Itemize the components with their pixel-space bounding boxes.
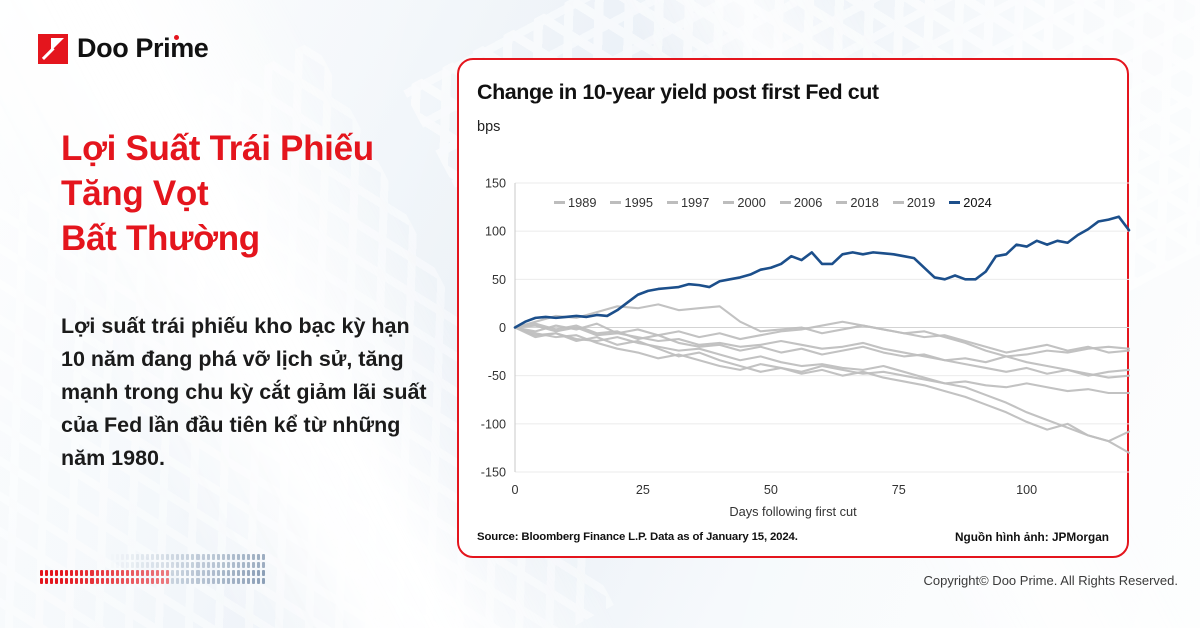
legend-label: 1995 [624, 195, 652, 210]
dot [151, 562, 154, 568]
dot [90, 570, 93, 576]
dot [202, 562, 205, 568]
dot [222, 562, 225, 568]
dot [191, 578, 194, 584]
dot [242, 562, 245, 568]
chart-credit: Nguồn hình ảnh: JPMorgan [955, 530, 1109, 544]
dot [111, 562, 114, 568]
dot [242, 554, 245, 560]
dot [171, 570, 174, 576]
dot [181, 578, 184, 584]
dot [80, 570, 83, 576]
x-tick-label-100: 100 [1016, 483, 1037, 497]
dot [136, 578, 139, 584]
body-paragraph: Lợi suất trái phiếu kho bạc kỳ hạn 10 nă… [61, 310, 431, 474]
dot [232, 562, 235, 568]
dot [217, 578, 220, 584]
dot [176, 562, 179, 568]
plot-area: 150100500-50-100-1500255075100 [459, 60, 1131, 560]
dot [161, 578, 164, 584]
legend-label: 1997 [681, 195, 709, 210]
dot [45, 578, 48, 584]
dot [146, 570, 149, 576]
legend-swatch-icon [949, 201, 960, 204]
dot [166, 562, 169, 568]
dot-row [40, 554, 265, 560]
dot [70, 578, 73, 584]
dot [111, 578, 114, 584]
dot [186, 562, 189, 568]
dot [247, 578, 250, 584]
dot [65, 578, 68, 584]
dot [257, 578, 260, 584]
dot [212, 562, 215, 568]
dot [70, 570, 73, 576]
dot [50, 570, 53, 576]
x-tick-label-0: 0 [511, 483, 518, 497]
dot [247, 554, 250, 560]
dot [237, 562, 240, 568]
dot [60, 570, 63, 576]
dot [136, 554, 139, 560]
chart-legend: 19891995199720002006201820192024 [554, 195, 992, 210]
dot [252, 578, 255, 584]
dot [146, 554, 149, 560]
dot [202, 578, 205, 584]
dot [212, 578, 215, 584]
dot [126, 554, 129, 560]
dot [237, 570, 240, 576]
dot [136, 570, 139, 576]
dot [116, 562, 119, 568]
legend-item-1989[interactable]: 1989 [554, 195, 596, 210]
dot [237, 578, 240, 584]
dot [55, 570, 58, 576]
legend-swatch-icon [836, 201, 847, 204]
dot [196, 578, 199, 584]
dot [161, 554, 164, 560]
dot [106, 570, 109, 576]
dot [156, 554, 159, 560]
dot [232, 570, 235, 576]
legend-label: 2024 [963, 195, 991, 210]
dot [111, 554, 114, 560]
legend-item-1997[interactable]: 1997 [667, 195, 709, 210]
dot [242, 578, 245, 584]
dot [141, 578, 144, 584]
dot [262, 554, 265, 560]
dot [181, 562, 184, 568]
x-tick-label-75: 75 [892, 483, 906, 497]
dot [101, 570, 104, 576]
series-line-2024 [515, 217, 1129, 328]
chart-svg: 150100500-50-100-1500255075100 [459, 60, 1131, 560]
dot [111, 570, 114, 576]
dot [247, 562, 250, 568]
dot [40, 570, 43, 576]
dot [151, 578, 154, 584]
dot [191, 554, 194, 560]
dot [156, 570, 159, 576]
dot [252, 570, 255, 576]
dot [227, 554, 230, 560]
dot [176, 578, 179, 584]
headline: Lợi Suất Trái Phiếu Tăng Vọt Bất Thường [61, 127, 451, 261]
dot [257, 570, 260, 576]
dot [131, 554, 134, 560]
dot [222, 578, 225, 584]
dot [85, 570, 88, 576]
dot [101, 578, 104, 584]
dot [217, 570, 220, 576]
copyright-notice: Copyright© Doo Prime. All Rights Reserve… [923, 573, 1178, 588]
dot [227, 570, 230, 576]
y-tick-label-150: 150 [485, 177, 506, 191]
dot [176, 570, 179, 576]
dot [121, 554, 124, 560]
dot [126, 570, 129, 576]
dot [227, 562, 230, 568]
dot [252, 554, 255, 560]
dot [156, 578, 159, 584]
poster-root: Doo Prime Lợi Suất Trái Phiếu Tăng Vọt B… [0, 0, 1200, 628]
dot [202, 570, 205, 576]
dot [45, 570, 48, 576]
dot [151, 554, 154, 560]
legend-item-2024[interactable]: 2024 [949, 195, 991, 210]
legend-item-2006[interactable]: 2006 [780, 195, 822, 210]
dot [141, 562, 144, 568]
dot [171, 562, 174, 568]
x-axis-title: Days following first cut [459, 504, 1127, 519]
dot [257, 562, 260, 568]
legend-swatch-icon [554, 201, 565, 204]
dot [222, 554, 225, 560]
y-tick-label-50: 50 [492, 273, 506, 287]
dot [207, 562, 210, 568]
dot [232, 578, 235, 584]
dot [262, 570, 265, 576]
dot [121, 578, 124, 584]
x-tick-label-50: 50 [764, 483, 778, 497]
headline-line-2: Tăng Vọt [61, 172, 451, 217]
chart-card: Change in 10-year yield post first Fed c… [457, 58, 1129, 558]
legend-item-2000[interactable]: 2000 [723, 195, 765, 210]
dot [252, 562, 255, 568]
dot [121, 562, 124, 568]
decorative-dot-pattern [40, 554, 265, 582]
dot [156, 562, 159, 568]
dot [141, 570, 144, 576]
legend-item-2019[interactable]: 2019 [893, 195, 935, 210]
dot [151, 570, 154, 576]
dot [166, 570, 169, 576]
dot [237, 554, 240, 560]
dot [222, 570, 225, 576]
dot [55, 578, 58, 584]
dot [212, 554, 215, 560]
dot [146, 562, 149, 568]
dot [106, 578, 109, 584]
dot [171, 578, 174, 584]
dot [181, 570, 184, 576]
dot [186, 554, 189, 560]
dot [207, 570, 210, 576]
chart-source: Source: Bloomberg Finance L.P. Data as o… [477, 531, 798, 543]
dot [116, 554, 119, 560]
dot [141, 554, 144, 560]
dot [217, 554, 220, 560]
dot [217, 562, 220, 568]
legend-swatch-icon [610, 201, 621, 204]
dot-row [40, 570, 265, 576]
headline-line-1: Lợi Suất Trái Phiếu [61, 127, 451, 172]
legend-label: 1989 [568, 195, 596, 210]
legend-swatch-icon [780, 201, 791, 204]
dot [126, 578, 129, 584]
y-tick-label-100: 100 [485, 225, 506, 239]
legend-label: 2000 [737, 195, 765, 210]
y-tick-label--150: -150 [481, 466, 506, 480]
legend-label: 2018 [850, 195, 878, 210]
doo-prime-mark-icon [38, 34, 68, 64]
dot [227, 578, 230, 584]
dot [196, 554, 199, 560]
dot [262, 578, 265, 584]
dot [80, 578, 83, 584]
series-line-2006 [515, 328, 1129, 394]
legend-swatch-icon [893, 201, 904, 204]
dot [247, 570, 250, 576]
dot [75, 570, 78, 576]
series-line-1995 [515, 324, 1129, 363]
dot [96, 570, 99, 576]
dot-row [40, 578, 265, 584]
brand-name: Doo Prime [77, 33, 208, 64]
dot [202, 554, 205, 560]
legend-swatch-icon [723, 201, 734, 204]
dot [136, 562, 139, 568]
dot [131, 562, 134, 568]
legend-item-1995[interactable]: 1995 [610, 195, 652, 210]
dot [121, 570, 124, 576]
y-tick-label--100: -100 [481, 417, 506, 431]
legend-item-2018[interactable]: 2018 [836, 195, 878, 210]
dot [50, 578, 53, 584]
dot-row [40, 562, 265, 568]
y-tick-label--50: -50 [488, 369, 506, 383]
dot [131, 578, 134, 584]
legend-label: 2019 [907, 195, 935, 210]
dot [262, 562, 265, 568]
headline-line-3: Bất Thường [61, 217, 451, 262]
x-tick-label-25: 25 [636, 483, 650, 497]
y-tick-label-0: 0 [499, 321, 506, 335]
dot [181, 554, 184, 560]
dot [131, 570, 134, 576]
dot [191, 570, 194, 576]
dot [161, 570, 164, 576]
dot [85, 578, 88, 584]
dot [207, 578, 210, 584]
dot [176, 554, 179, 560]
dot [186, 578, 189, 584]
dot [166, 578, 169, 584]
dot [207, 554, 210, 560]
dot [75, 578, 78, 584]
dot [191, 562, 194, 568]
dot [196, 562, 199, 568]
legend-swatch-icon [667, 201, 678, 204]
dot [126, 562, 129, 568]
dot [161, 562, 164, 568]
dot [242, 570, 245, 576]
dot [65, 570, 68, 576]
dot [232, 554, 235, 560]
dot [186, 570, 189, 576]
dot [40, 578, 43, 584]
dot [257, 554, 260, 560]
dot [116, 570, 119, 576]
dot [166, 554, 169, 560]
legend-label: 2006 [794, 195, 822, 210]
dot [116, 578, 119, 584]
dot [196, 570, 199, 576]
brand-logo: Doo Prime [38, 33, 208, 64]
dot [90, 578, 93, 584]
dot [171, 554, 174, 560]
dot [146, 578, 149, 584]
dot [96, 578, 99, 584]
dot [212, 570, 215, 576]
dot [60, 578, 63, 584]
